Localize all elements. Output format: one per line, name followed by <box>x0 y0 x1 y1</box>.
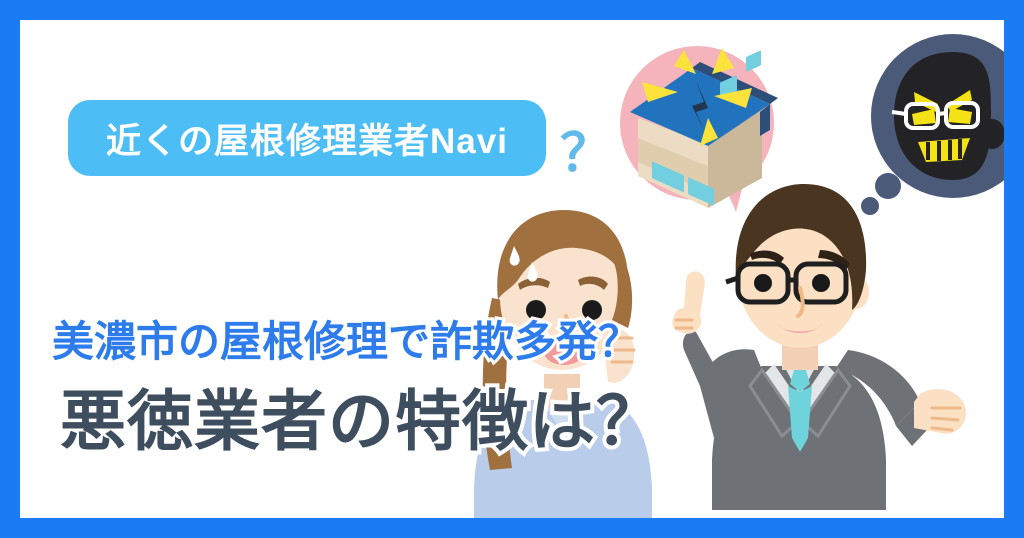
advisor-man-icon <box>670 170 970 518</box>
advisor-man-illustration <box>670 170 970 518</box>
thumbnail-canvas: 近くの屋根修理業者Navi ？ 美濃市の屋根修理で詐欺多発？ 悪徳業者の特徴は？ <box>0 0 1024 538</box>
site-badge[interactable]: 近くの屋根修理業者Navi <box>68 100 546 176</box>
headline-line-1: 美濃市の屋根修理で詐欺多発？ <box>52 308 640 369</box>
white-card: 近くの屋根修理業者Navi ？ 美濃市の屋根修理で詐欺多発？ 悪徳業者の特徴は？ <box>20 20 1004 518</box>
site-badge-label: 近くの屋根修理業者Navi <box>106 113 508 164</box>
headline-line-2: 悪徳業者の特徴は？ <box>60 368 663 464</box>
